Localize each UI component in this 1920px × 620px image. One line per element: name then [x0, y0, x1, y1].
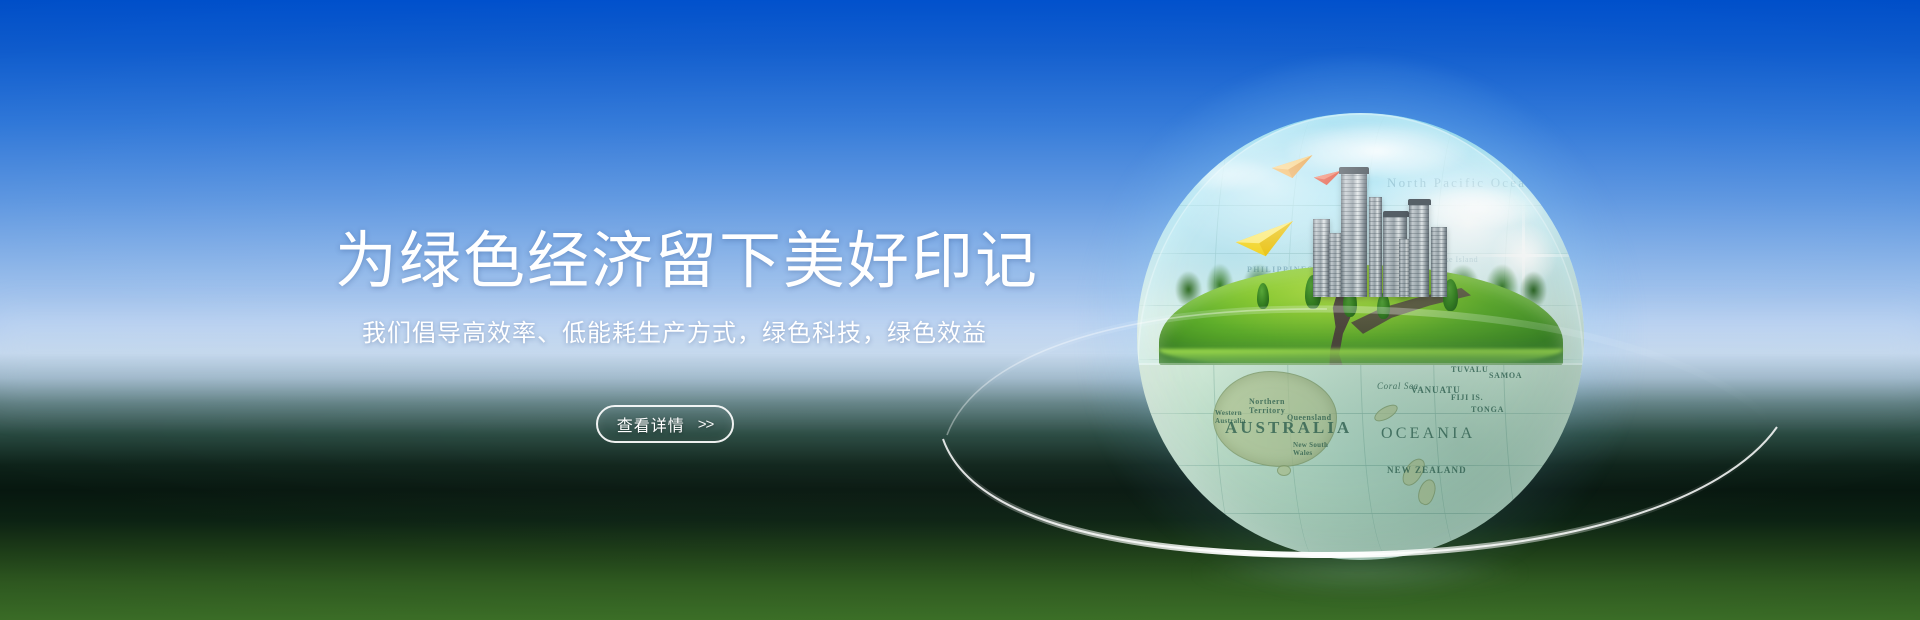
page-title: 为绿色经济留下美好印记 — [335, 225, 1035, 299]
building-cap — [1383, 211, 1409, 217]
hero-banner: North Pacific Ocean PHILIPPINES Wake Isl… — [0, 0, 1920, 620]
landmass-tasmania — [1277, 465, 1291, 476]
tree — [1257, 283, 1269, 309]
hill-rim-glow — [1159, 349, 1563, 365]
city-skyline — [1313, 157, 1453, 297]
building — [1313, 219, 1330, 297]
view-details-button[interactable]: 查看详情 >> — [596, 405, 734, 443]
cta-container: 查看详情 >> — [596, 405, 734, 443]
chevron-right-icon: >> — [698, 416, 714, 433]
building-cap — [1339, 167, 1369, 174]
page-subtitle: 我们倡导高效率、低能耗生产方式，绿色科技，绿色效益 — [362, 319, 1035, 349]
globe-illustration: North Pacific Ocean PHILIPPINES Wake Isl… — [1137, 113, 1584, 560]
dome-scene — [1137, 113, 1584, 365]
building — [1431, 227, 1447, 297]
building-cap — [1408, 199, 1431, 205]
cloud — [1177, 157, 1273, 191]
cta-label: 查看详情 — [617, 412, 685, 436]
globe-sphere: North Pacific Ocean PHILIPPINES Wake Isl… — [1137, 113, 1584, 560]
building-tower — [1341, 171, 1367, 297]
hero-copy-block: 为绿色经济留下美好印记 我们倡导高效率、低能耗生产方式，绿色科技，绿色效益 — [335, 225, 1035, 349]
building — [1409, 201, 1429, 297]
building — [1369, 197, 1382, 297]
